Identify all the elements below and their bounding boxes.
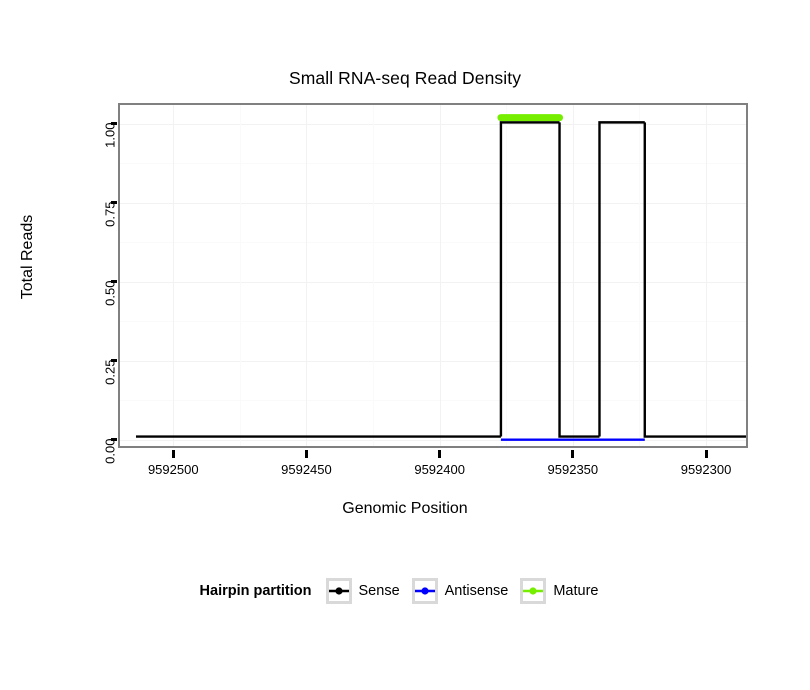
legend-key-antisense-icon xyxy=(412,578,438,604)
y-tick-label: 0.75 xyxy=(103,201,118,241)
legend-label: Sense xyxy=(359,583,400,599)
legend-item-mature[interactable]: Mature xyxy=(520,578,598,604)
legend-items: SenseAntisenseMature xyxy=(326,578,611,604)
y-tick-label: 0.50 xyxy=(103,280,118,320)
legend-item-sense[interactable]: Sense xyxy=(326,578,400,604)
x-tick-label: 9592400 xyxy=(414,462,465,477)
x-tick-mark xyxy=(571,450,574,458)
x-tick-mark xyxy=(305,450,308,458)
y-axis-title: Total Reads xyxy=(19,177,37,337)
x-tick-label: 9592300 xyxy=(681,462,732,477)
legend-item-antisense[interactable]: Antisense xyxy=(412,578,509,604)
series-sense xyxy=(136,122,746,436)
legend-label: Antisense xyxy=(445,583,509,599)
series-line-sense xyxy=(136,122,746,436)
plot-panel xyxy=(118,103,748,448)
legend-label: Mature xyxy=(553,583,598,599)
line-point-icon xyxy=(329,581,349,601)
x-tick-label: 9592500 xyxy=(148,462,199,477)
legend: Hairpin partition SenseAntisenseMature xyxy=(0,578,810,604)
y-tick-label: 1.00 xyxy=(103,122,118,162)
x-tick-label: 9592350 xyxy=(548,462,599,477)
legend-title: Hairpin partition xyxy=(200,583,312,599)
line-point-icon xyxy=(523,581,543,601)
data-series-layer xyxy=(120,105,746,446)
x-tick-label: 9592450 xyxy=(281,462,332,477)
y-tick-label: 0.00 xyxy=(103,438,118,478)
x-tick-mark xyxy=(172,450,175,458)
line-point-icon xyxy=(415,581,435,601)
legend-key-sense-icon xyxy=(326,578,352,604)
x-tick-mark xyxy=(438,450,441,458)
x-tick-mark xyxy=(705,450,708,458)
x-axis-title: Genomic Position xyxy=(0,500,810,518)
chart-title: Small RNA-seq Read Density xyxy=(0,68,810,89)
chart-root: Small RNA-seq Read Density Total Reads G… xyxy=(0,0,810,690)
legend-key-mature-icon xyxy=(520,578,546,604)
y-tick-label: 0.25 xyxy=(103,359,118,399)
